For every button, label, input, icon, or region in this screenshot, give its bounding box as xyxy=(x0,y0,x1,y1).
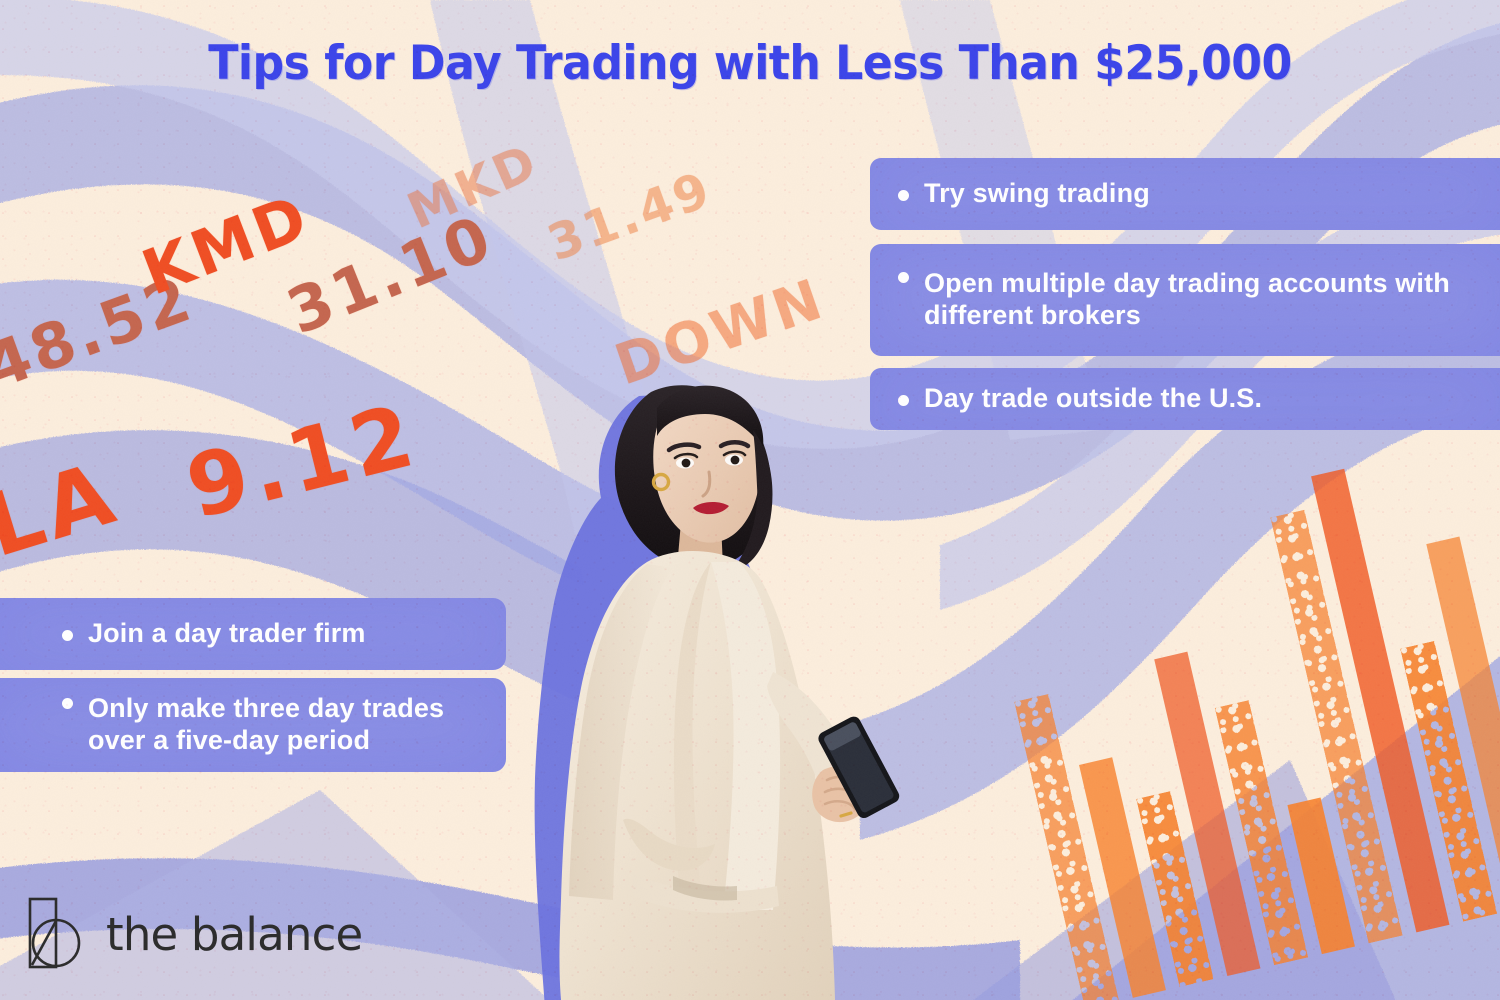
infographic-canvas: 48.52 KMD 31.10 MKD 31.49 LA 9.12 DOWN xyxy=(0,0,1500,1000)
brand-logo[interactable]: the balance xyxy=(26,896,362,972)
bar-2 xyxy=(1079,757,1166,998)
bar-3 xyxy=(1136,791,1213,987)
callout-left-1[interactable]: Join a day trader firm xyxy=(0,598,506,670)
bar-5 xyxy=(1215,700,1308,965)
bullet-dot-icon xyxy=(898,395,909,406)
callout-left-2[interactable]: Only make three day trades over a five-d… xyxy=(0,678,506,772)
callout-right-1[interactable]: Try swing trading xyxy=(870,158,1500,230)
callout-right-1-text: Try swing trading xyxy=(924,178,1150,210)
bullet-dot-icon xyxy=(898,190,909,201)
bullet-dot-icon xyxy=(62,630,73,641)
bar-6 xyxy=(1287,798,1355,954)
bar-8 xyxy=(1311,469,1450,932)
callout-right-3[interactable]: Day trade outside the U.S. xyxy=(870,368,1500,430)
page-title: Tips for Day Trading with Less Than $25,… xyxy=(45,36,1455,91)
bullet-dot-icon xyxy=(898,272,909,283)
callout-left-1-text: Join a day trader firm xyxy=(88,618,366,650)
balance-mark-icon xyxy=(26,896,88,972)
ticker-value-31-49: 31.49 xyxy=(540,161,719,273)
logo-wordmark: the balance xyxy=(106,908,362,961)
bar-1 xyxy=(1014,694,1119,1000)
ticker-value-31-10: 31.10 xyxy=(277,200,503,348)
bullet-dot-icon xyxy=(62,698,73,709)
callout-right-2[interactable]: Open multiple day trading accounts with … xyxy=(870,244,1500,356)
bar-9 xyxy=(1401,641,1498,921)
ticker-value-9-12: 9.12 xyxy=(177,385,427,538)
callout-left-2-text: Only make three day trades over a five-d… xyxy=(88,693,482,756)
callout-right-2-text: Open multiple day trading accounts with … xyxy=(924,268,1479,331)
bar-10 xyxy=(1426,536,1500,910)
callout-right-3-text: Day trade outside the U.S. xyxy=(924,383,1262,415)
bar-4 xyxy=(1154,651,1261,976)
bar-7 xyxy=(1271,510,1403,944)
ticker-symbol-la: LA xyxy=(0,443,129,577)
